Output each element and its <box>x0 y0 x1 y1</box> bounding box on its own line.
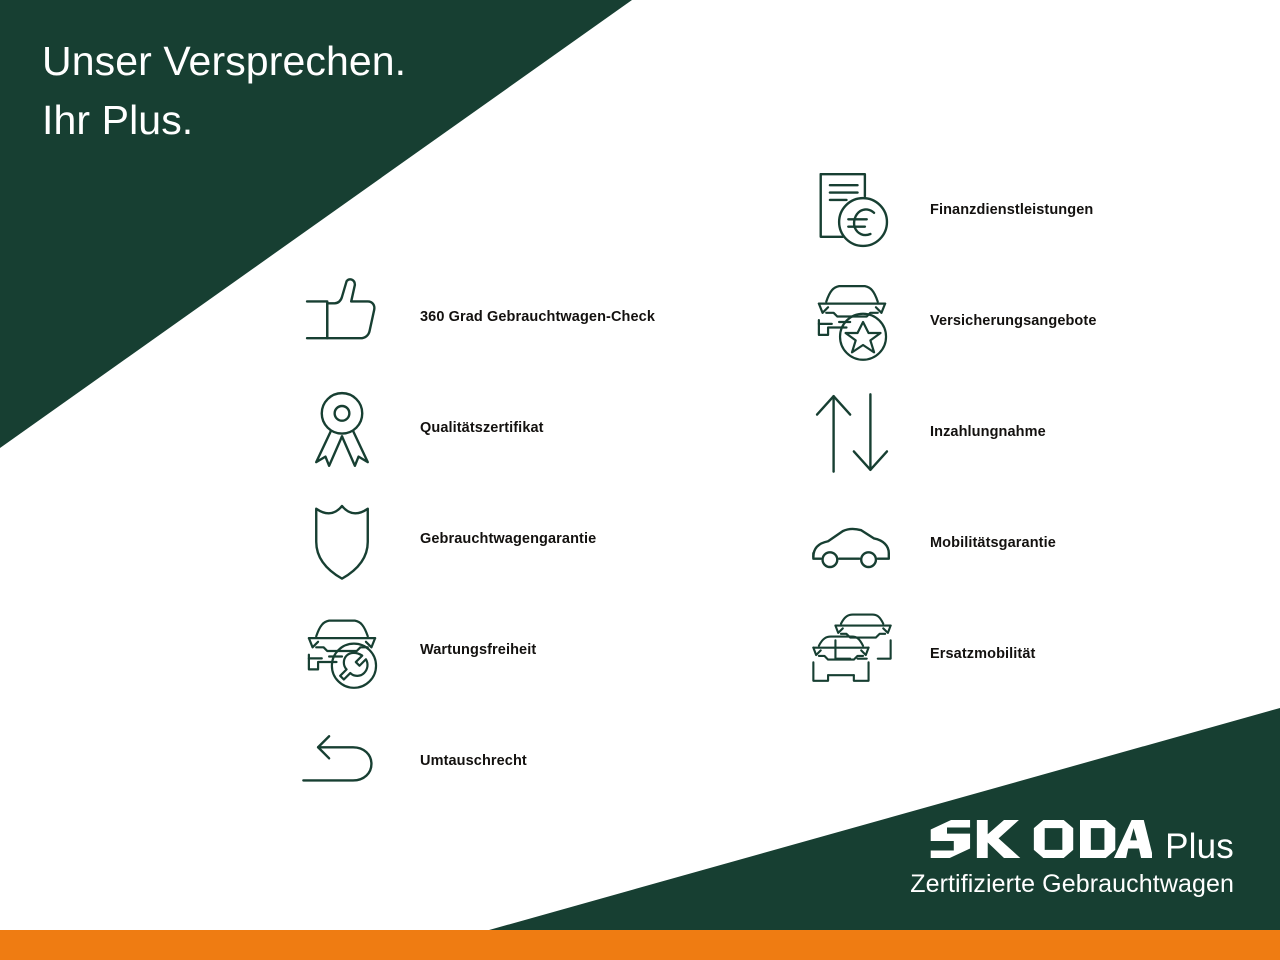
list-item: Qualitätszertifikat <box>296 373 766 484</box>
list-item-label: 360 Grad Gebrauchtwagen-Check <box>420 309 655 326</box>
two-cars-icon <box>806 609 898 701</box>
return-arrow-icon <box>296 716 388 808</box>
car-side-icon <box>806 498 898 590</box>
list-item-label: Inzahlungnahme <box>930 424 1046 441</box>
list-item: Gebrauchtwagengarantie <box>296 484 766 595</box>
list-item-label: Umtauschrecht <box>420 753 527 770</box>
thumbs-up-icon <box>296 272 388 364</box>
list-item: Finanzdienstleistungen <box>806 155 1236 266</box>
orange-accent-bar <box>0 930 1280 960</box>
list-item-label: Mobilitätsgarantie <box>930 535 1056 552</box>
award-ribbon-icon <box>296 383 388 475</box>
car-star-icon <box>806 276 898 368</box>
skoda-wordmark <box>928 820 1152 858</box>
list-item-label: Ersatzmobilität <box>930 646 1035 663</box>
feature-list-right: Finanzdienstleistungen Versicherungsange… <box>806 155 1236 710</box>
shield-icon <box>296 494 388 586</box>
list-item-label: Finanzdienstleistungen <box>930 202 1093 219</box>
list-item-label: Gebrauchtwagengarantie <box>420 531 596 548</box>
list-item: Inzahlungnahme <box>806 377 1236 488</box>
logo-plus-word: Plus <box>1165 829 1234 864</box>
brand-logo: Plus Zertifizierte Gebrauchtwagen <box>910 820 1234 899</box>
list-item: 360 Grad Gebrauchtwagen-Check <box>296 262 766 373</box>
promo-banner: Unser Versprechen. Ihr Plus. 360 Grad Ge… <box>0 0 1280 960</box>
list-item-label: Wartungsfreiheit <box>420 642 536 659</box>
list-item: Ersatzmobilität <box>806 599 1236 710</box>
list-item: Mobilitätsgarantie <box>806 488 1236 599</box>
document-euro-icon <box>806 165 898 257</box>
car-wrench-icon <box>296 605 388 697</box>
logo-row: Plus <box>910 820 1234 864</box>
list-item: Versicherungsangebote <box>806 266 1236 377</box>
up-down-arrows-icon <box>806 387 898 479</box>
feature-list-left: 360 Grad Gebrauchtwagen-Check Qualitätsz… <box>296 262 766 817</box>
list-item-label: Qualitätszertifikat <box>420 420 544 437</box>
list-item: Umtauschrecht <box>296 706 766 817</box>
page-title: Unser Versprechen. Ihr Plus. <box>42 32 406 151</box>
list-item-label: Versicherungsangebote <box>930 313 1097 330</box>
list-item: Wartungsfreiheit <box>296 595 766 706</box>
logo-tagline: Zertifizierte Gebrauchtwagen <box>910 870 1234 899</box>
